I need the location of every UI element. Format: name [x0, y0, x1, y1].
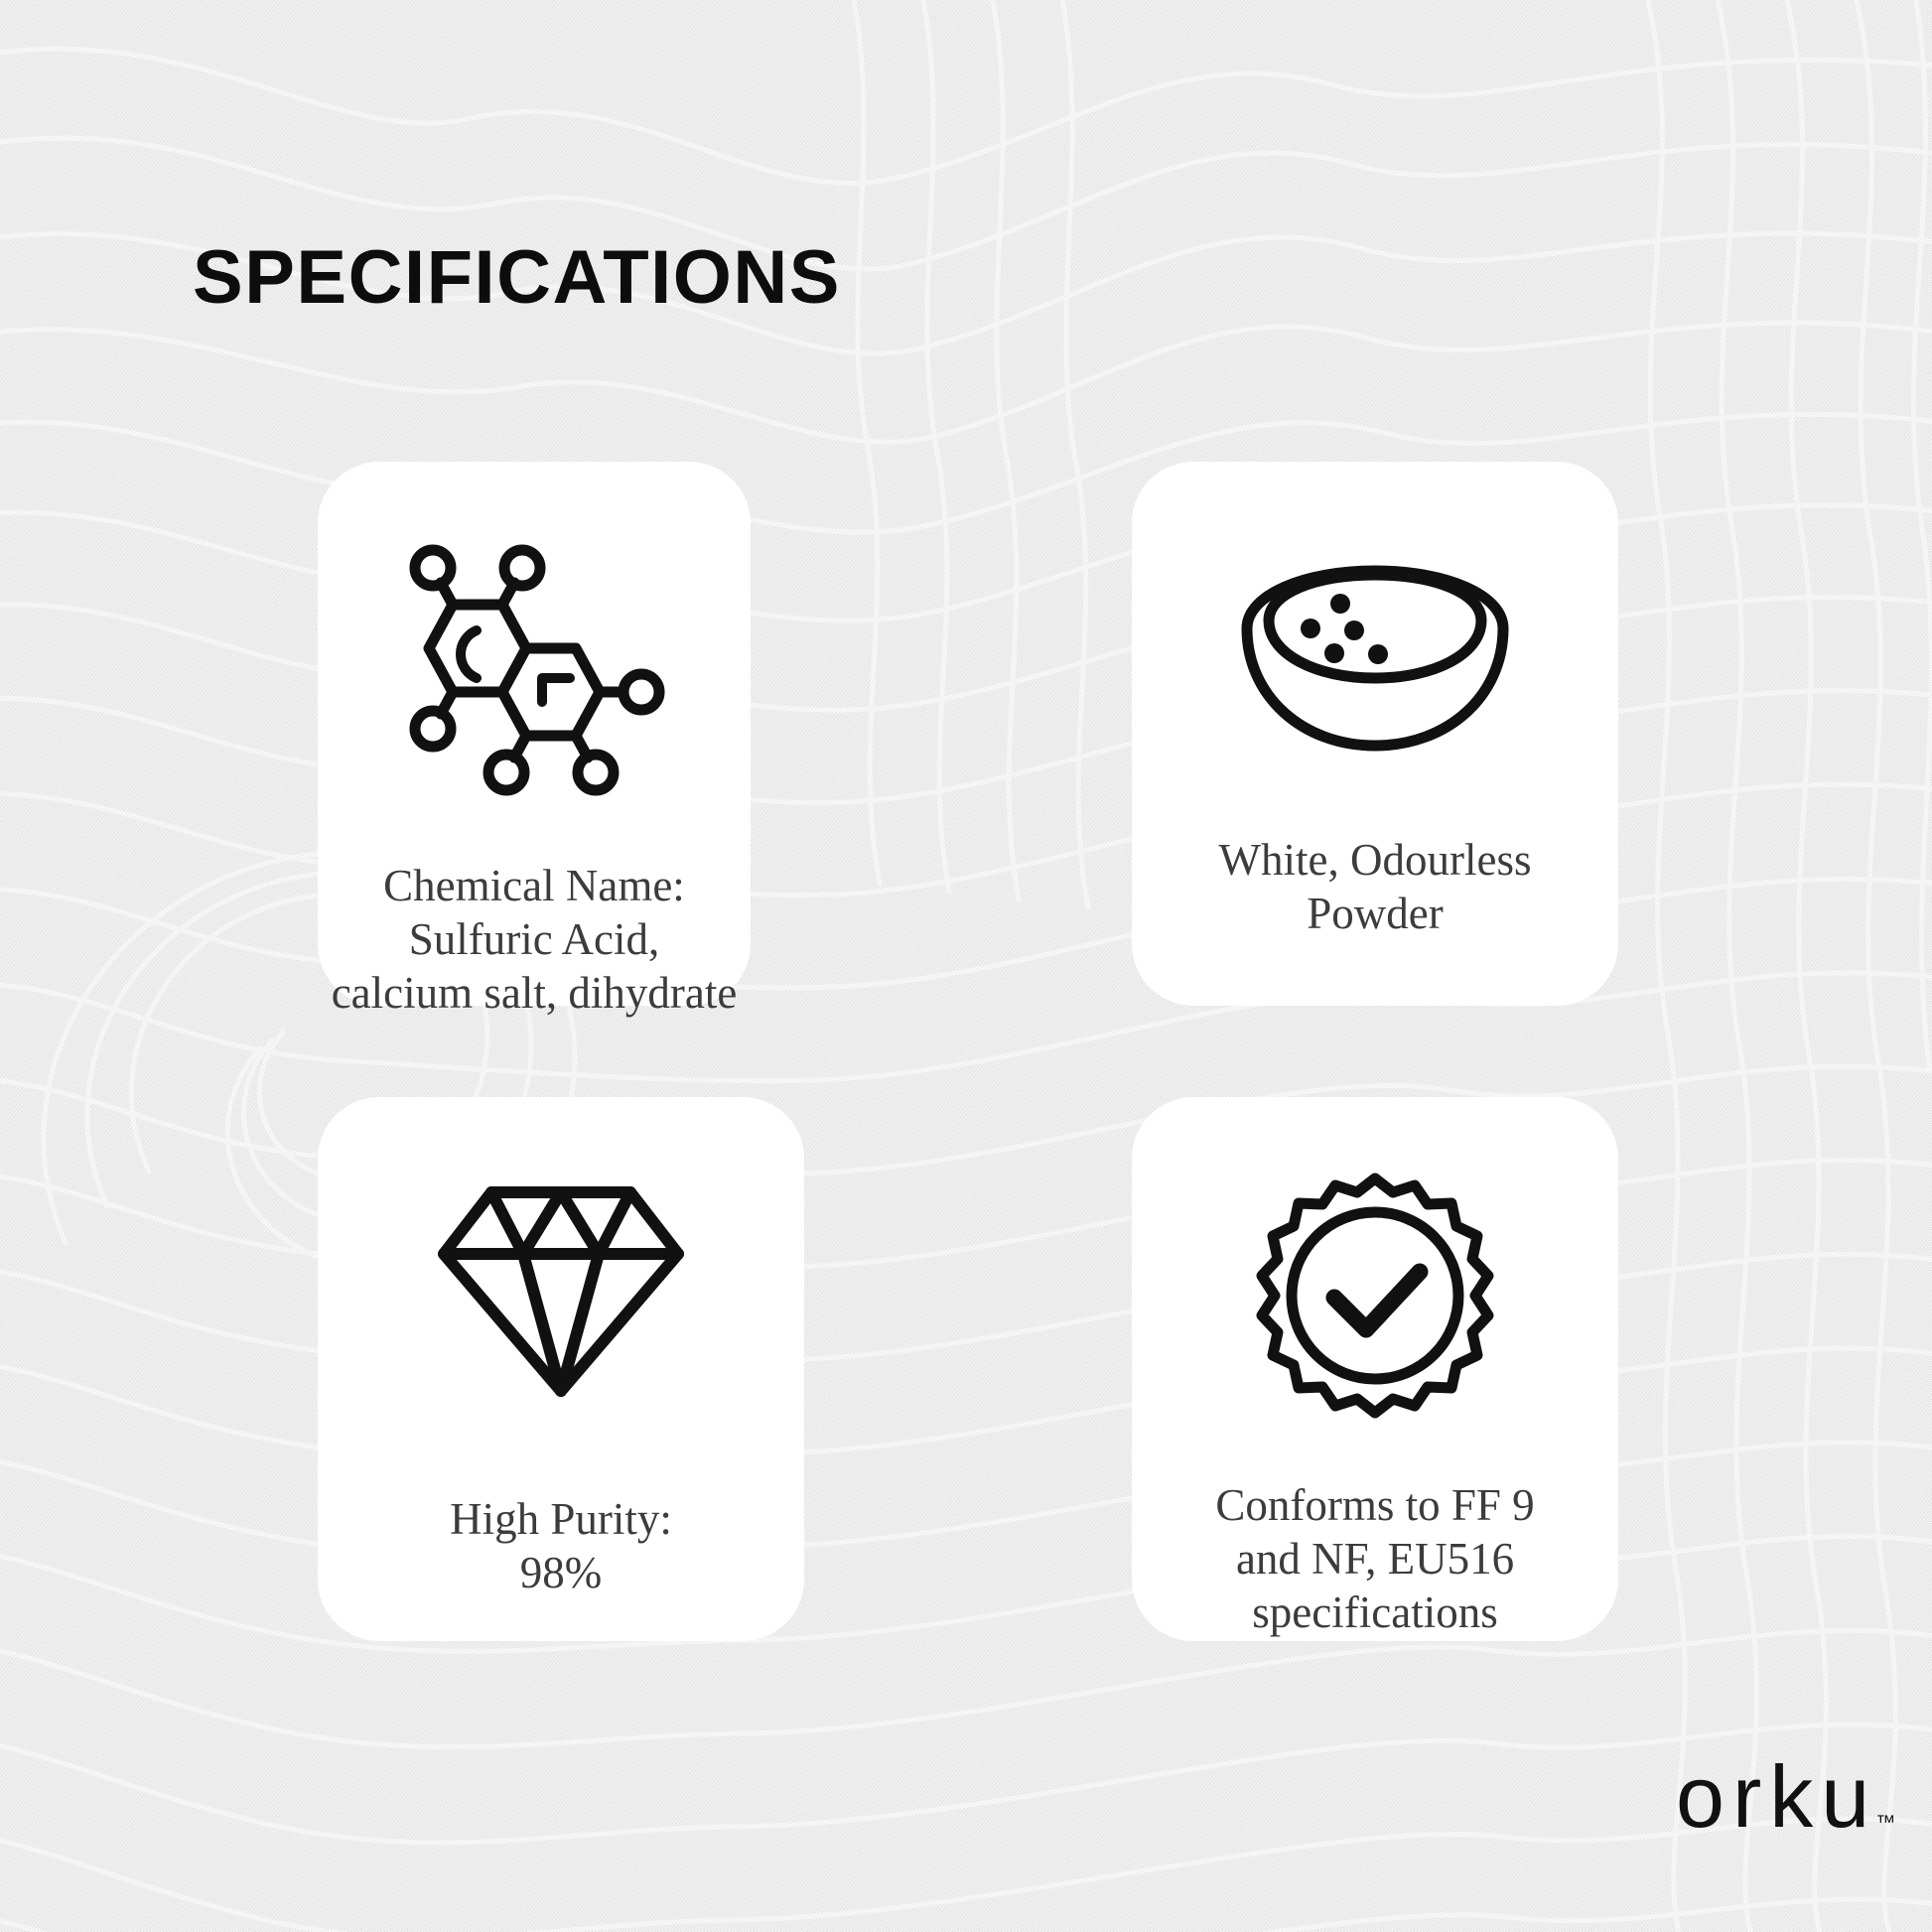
brand-logo-wordmark: orku: [1676, 1753, 1877, 1841]
spec-card-purity-text: High Purity: 98%: [289, 1492, 834, 1599]
spec-card-appearance: White, Odourless Powder: [1132, 462, 1618, 1006]
spec-card-appearance-text: White, Odourless Powder: [1103, 833, 1648, 940]
spec-card-conformance-text: Conforms to FF 9 and NF, EU516 specifica…: [1103, 1478, 1648, 1639]
spec-card-chemical-name: Chemical Name: Sulfuric Acid, calcium sa…: [318, 462, 751, 1006]
page-title: SPECIFICATIONS: [193, 235, 841, 321]
spec-card-purity: High Purity: 98%: [318, 1097, 804, 1641]
powder-bowl-icon: [1132, 551, 1618, 759]
brand-logo: orku ™: [1676, 1753, 1896, 1841]
diamond-icon: [318, 1176, 804, 1407]
spec-card-chemical-name-text: Chemical Name: Sulfuric Acid, calcium sa…: [292, 859, 776, 1020]
brand-logo-trademark: ™: [1875, 1813, 1896, 1833]
spec-card-conformance: Conforms to FF 9 and NF, EU516 specifica…: [1132, 1097, 1618, 1641]
molecule-icon: [318, 527, 751, 815]
specifications-infographic: SPECIFICATIONS: [0, 0, 1932, 1932]
certified-badge-icon: [1132, 1169, 1618, 1421]
